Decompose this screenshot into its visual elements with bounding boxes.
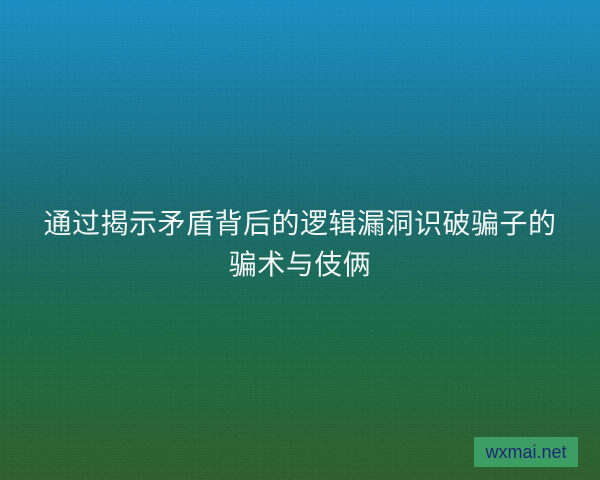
watermark-badge: wxmai.net [474,437,578,467]
image-canvas: 通过揭示矛盾背后的逻辑漏洞识破骗子的 骗术与伎俩 wxmai.net [0,0,600,480]
headline-text: 通过揭示矛盾背后的逻辑漏洞识破骗子的 骗术与伎俩 [0,203,600,285]
watermark-label: wxmai.net [485,443,566,461]
